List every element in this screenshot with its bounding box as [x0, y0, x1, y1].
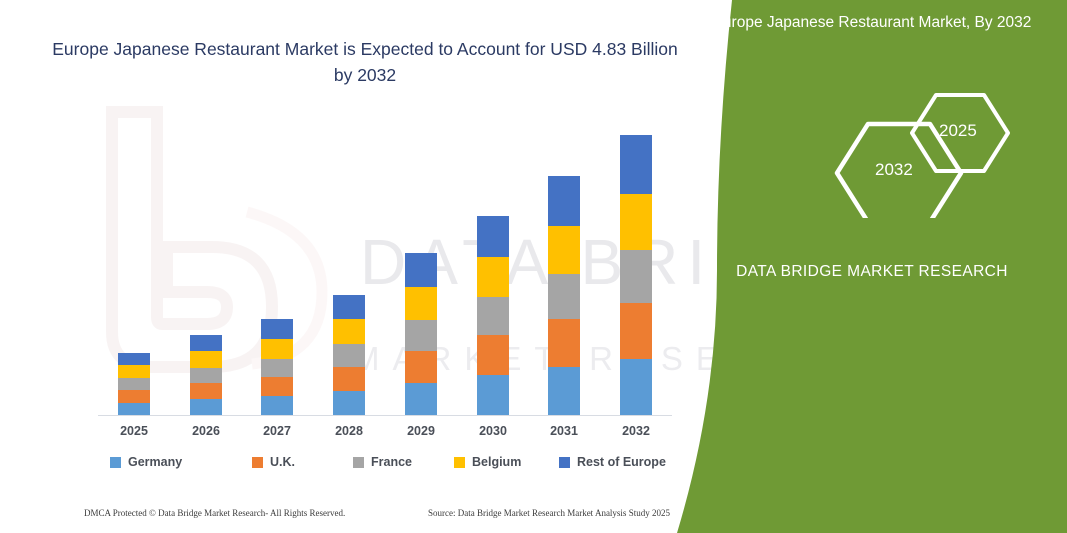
- bar-2026: [190, 335, 222, 416]
- bar-segment-u-k: [333, 367, 365, 391]
- bar-segment-belgium: [405, 287, 437, 320]
- bar-segment-rest-of-europe: [620, 135, 652, 194]
- bar-segment-rest-of-europe: [548, 176, 580, 226]
- legend-swatch-icon: [353, 457, 364, 468]
- page-title: Europe Japanese Restaurant Market is Exp…: [50, 36, 680, 88]
- bar-2031: [548, 176, 580, 416]
- chart-legend: GermanyU.K.FranceBelgiumRest of Europe: [110, 455, 670, 475]
- bar-segment-belgium: [118, 365, 150, 378]
- bar-segment-france: [190, 368, 222, 383]
- bar-segment-u-k: [190, 383, 222, 399]
- bar-segment-rest-of-europe: [261, 319, 293, 339]
- bar-segment-belgium: [548, 226, 580, 274]
- bar-segment-rest-of-europe: [405, 253, 437, 287]
- legend-swatch-icon: [252, 457, 263, 468]
- x-tick-2031: 2031: [534, 424, 594, 438]
- bar-segment-france: [477, 297, 509, 335]
- legend-item-rest-of-europe[interactable]: Rest of Europe: [559, 455, 666, 469]
- x-tick-2028: 2028: [319, 424, 379, 438]
- bar-2029: [405, 253, 437, 416]
- x-tick-2029: 2029: [391, 424, 451, 438]
- bar-2028: [333, 295, 365, 416]
- legend-swatch-icon: [559, 457, 570, 468]
- x-tick-2025: 2025: [104, 424, 164, 438]
- side-panel: Europe Japanese Restaurant Market, By 20…: [677, 0, 1067, 533]
- bar-2027: [261, 319, 293, 416]
- x-axis-line: [98, 415, 672, 416]
- bar-segment-u-k: [477, 335, 509, 375]
- x-tick-2032: 2032: [606, 424, 666, 438]
- legend-label: Germany: [128, 455, 182, 469]
- bar-segment-france: [261, 359, 293, 377]
- bar-segment-france: [620, 250, 652, 303]
- bar-segment-belgium: [477, 257, 509, 297]
- bar-segment-u-k: [261, 377, 293, 396]
- stacked-bar-plot: [98, 120, 672, 416]
- bar-segment-u-k: [118, 390, 150, 403]
- bar-segment-germany: [620, 359, 652, 416]
- legend-label: Rest of Europe: [577, 455, 666, 469]
- bar-segment-belgium: [333, 319, 365, 344]
- x-tick-2027: 2027: [247, 424, 307, 438]
- bar-segment-rest-of-europe: [477, 216, 509, 257]
- hexagon-group: 2025 2032: [737, 88, 1037, 218]
- side-panel-content: Europe Japanese Restaurant Market, By 20…: [677, 0, 1067, 533]
- bar-segment-germany: [190, 399, 222, 416]
- infographic-root: DATA BRIDGE MARKET RESEARCH Europe Japan…: [0, 0, 1067, 533]
- bar-segment-france: [548, 274, 580, 319]
- bar-segment-rest-of-europe: [118, 353, 150, 365]
- bar-segment-belgium: [261, 339, 293, 359]
- bar-segment-u-k: [405, 351, 437, 383]
- bar-segment-u-k: [548, 319, 580, 367]
- hexagon-label-2032: 2032: [875, 160, 913, 180]
- side-panel-brand: DATA BRIDGE MARKET RESEARCH: [697, 258, 1047, 286]
- bar-segment-france: [333, 344, 365, 367]
- bar-2032: [620, 135, 652, 416]
- legend-item-france[interactable]: France: [353, 455, 412, 469]
- bar-segment-france: [405, 320, 437, 351]
- legend-label: France: [371, 455, 412, 469]
- footer-copyright: DMCA Protected © Data Bridge Market Rese…: [84, 508, 345, 518]
- x-tick-2026: 2026: [176, 424, 236, 438]
- hexagon-label-2025: 2025: [939, 121, 977, 141]
- legend-label: U.K.: [270, 455, 295, 469]
- bar-2025: [118, 353, 150, 416]
- legend-item-germany[interactable]: Germany: [110, 455, 182, 469]
- x-tick-2030: 2030: [463, 424, 523, 438]
- bar-segment-u-k: [620, 303, 652, 359]
- side-panel-title: Europe Japanese Restaurant Market, By 20…: [697, 10, 1047, 36]
- bar-segment-rest-of-europe: [190, 335, 222, 351]
- legend-item-u-k[interactable]: U.K.: [252, 455, 295, 469]
- x-axis-tick-labels: 20252026202720282029203020312032: [98, 424, 672, 444]
- legend-label: Belgium: [472, 455, 521, 469]
- bar-segment-belgium: [620, 194, 652, 250]
- legend-swatch-icon: [110, 457, 121, 468]
- legend-swatch-icon: [454, 457, 465, 468]
- bar-segment-germany: [405, 383, 437, 416]
- bar-segment-germany: [333, 391, 365, 416]
- bar-segment-belgium: [190, 351, 222, 368]
- footer-source: Source: Data Bridge Market Research Mark…: [428, 508, 670, 518]
- bar-segment-germany: [548, 367, 580, 416]
- hexagon-shapes-icon: [737, 88, 1037, 218]
- bar-2030: [477, 216, 509, 416]
- chart-panel: Europe Japanese Restaurant Market is Exp…: [0, 0, 760, 533]
- legend-item-belgium[interactable]: Belgium: [454, 455, 521, 469]
- bar-segment-germany: [261, 396, 293, 416]
- bar-segment-rest-of-europe: [333, 295, 365, 319]
- bar-segment-germany: [477, 375, 509, 416]
- bar-segment-france: [118, 378, 150, 390]
